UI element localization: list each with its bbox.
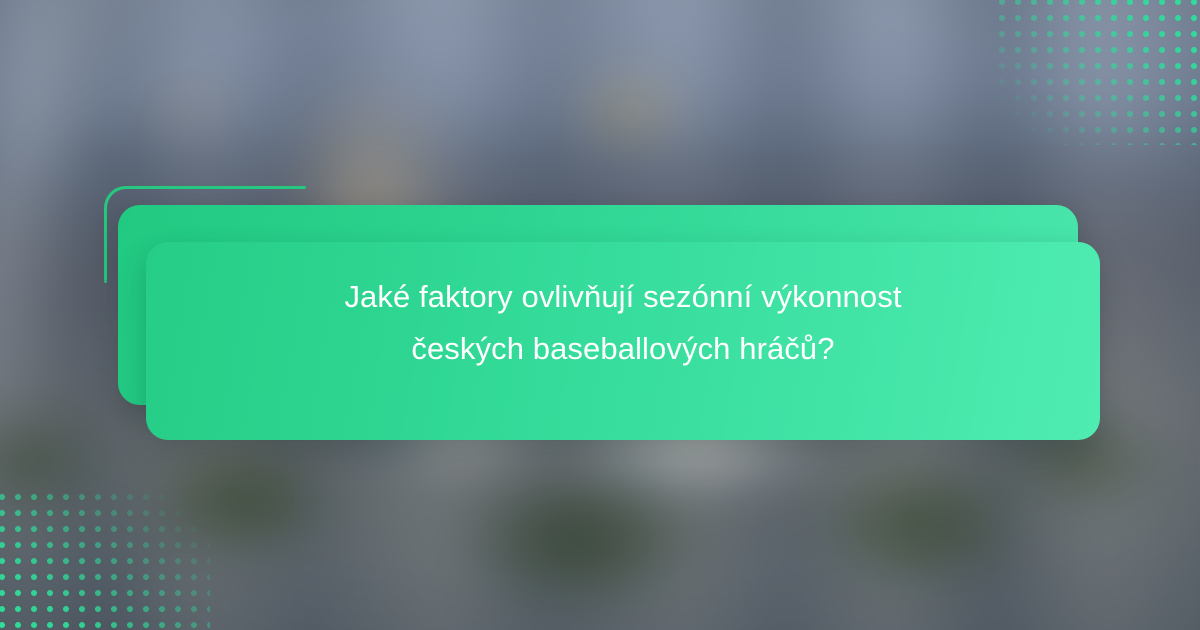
card-stack: Jaké faktory ovlivňují sezónní výkonnost… [0, 0, 1200, 630]
headline-block: Jaké faktory ovlivňují sezónní výkonnost… [146, 205, 1100, 440]
headline-line-1: Jaké faktory ovlivňují sezónní výkonnost [344, 271, 901, 323]
share-card-canvas: Jaké faktory ovlivňují sezónní výkonnost… [0, 0, 1200, 630]
headline-line-2: českých baseballových hráčů? [411, 323, 834, 375]
